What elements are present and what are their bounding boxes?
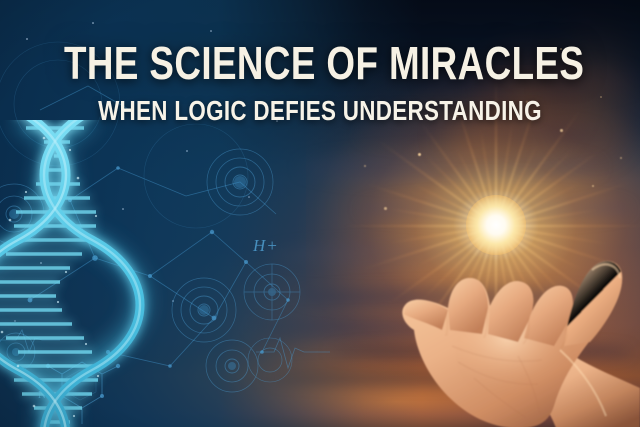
- page-subtitle: WHEN LOGIC DEFIES UNDERSTANDING: [64, 97, 576, 125]
- title-card: N H+: [0, 0, 640, 427]
- title-block: THE SCIENCE OF MIRACLES WHEN LOGIC DEFIE…: [0, 40, 640, 125]
- page-title: THE SCIENCE OF MIRACLES: [64, 40, 576, 86]
